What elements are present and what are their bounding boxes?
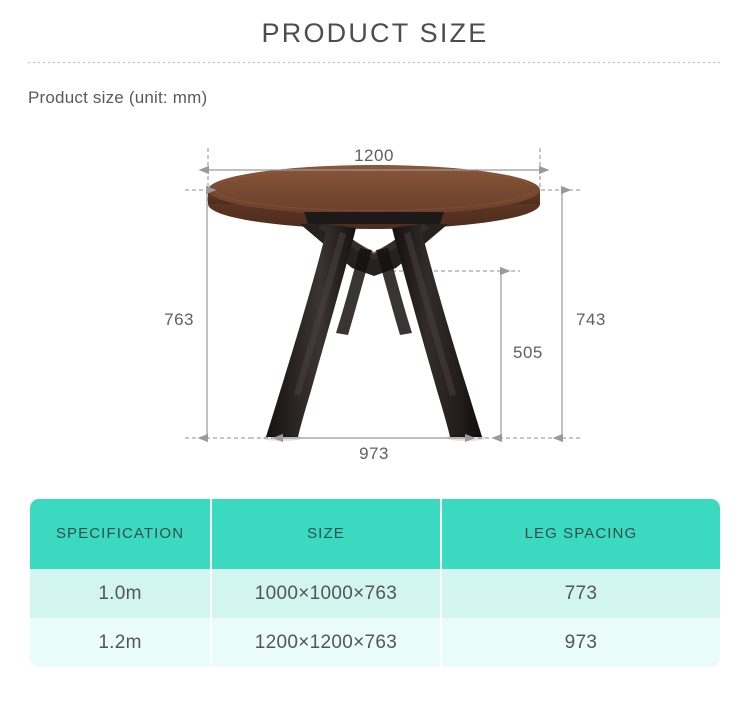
dimension-label-top-width: 1200 xyxy=(354,146,394,165)
column-header-size: SIZE xyxy=(210,499,440,569)
column-header-leg-spacing: LEG SPACING xyxy=(440,499,720,569)
dimension-diagram: 1200 763 743 505 973 xyxy=(0,128,750,473)
column-header-specification: SPECIFICATION xyxy=(30,499,210,569)
page-title: PRODUCT SIZE xyxy=(0,0,750,50)
unit-subtitle: Product size (unit: mm) xyxy=(28,88,207,108)
dimension-label-leg-spacing: 973 xyxy=(359,444,389,463)
table-header-row: SPECIFICATION SIZE LEG SPACING xyxy=(30,499,720,569)
cell-leg-spacing: 773 xyxy=(440,569,720,618)
specification-table: SPECIFICATION SIZE LEG SPACING 1.0m 1000… xyxy=(30,499,720,667)
dimension-label-under-table: 505 xyxy=(513,343,543,362)
header-divider xyxy=(28,62,722,63)
cell-size: 1200×1200×763 xyxy=(210,618,440,667)
cell-specification: 1.2m xyxy=(30,618,210,667)
dimension-label-height-left: 763 xyxy=(164,310,194,329)
cell-leg-spacing: 973 xyxy=(440,618,720,667)
table-row: 1.0m 1000×1000×763 773 xyxy=(30,569,720,618)
product-size-page: PRODUCT SIZE Product size (unit: mm) xyxy=(0,0,750,709)
cell-size: 1000×1000×763 xyxy=(210,569,440,618)
table-row: 1.2m 1200×1200×763 973 xyxy=(30,618,720,667)
dimension-label-height-right: 743 xyxy=(576,310,606,329)
cell-specification: 1.0m xyxy=(30,569,210,618)
